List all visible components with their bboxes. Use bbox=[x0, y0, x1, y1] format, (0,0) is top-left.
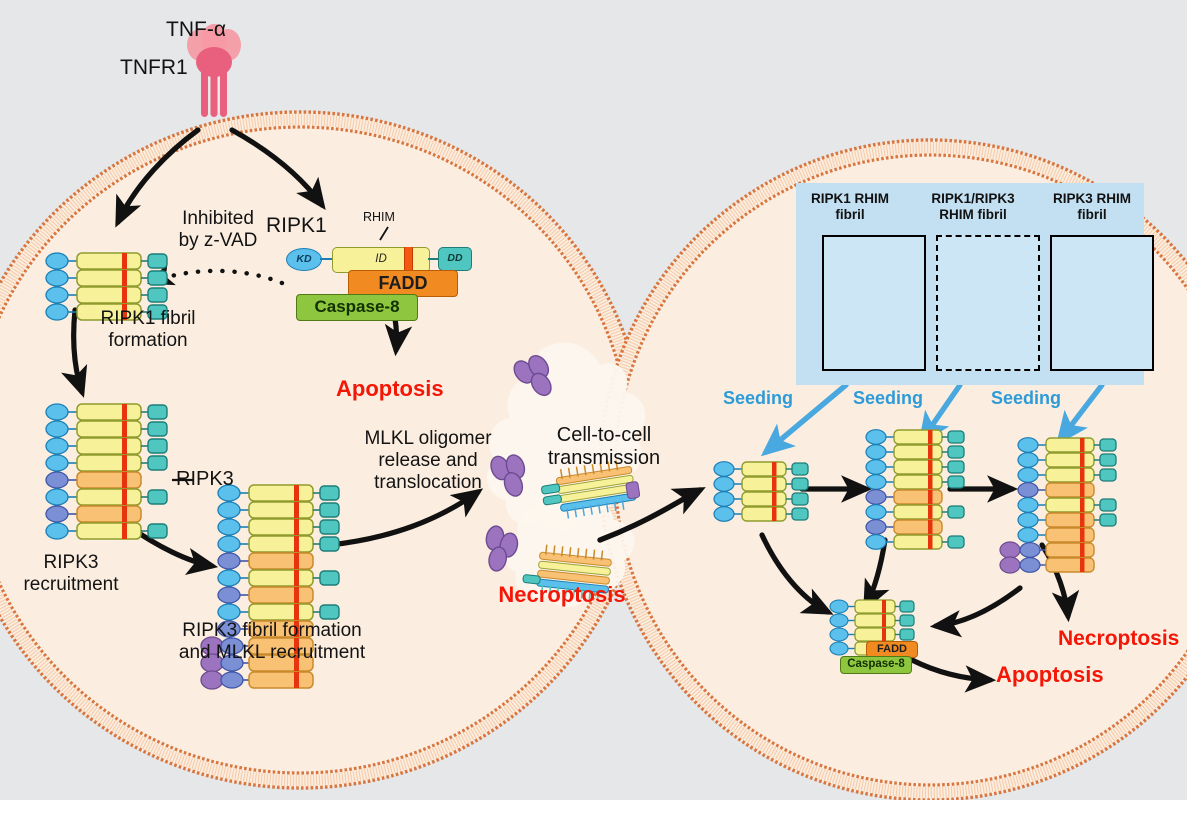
kd-linker bbox=[320, 258, 332, 260]
ripk1-domain-schematic: KD ID DD FADD Caspase-8 bbox=[286, 232, 476, 306]
caspase8-protein: Caspase-8 bbox=[296, 294, 418, 321]
inset-title-ripk3: RIPK3 RHIM fibril bbox=[1040, 191, 1144, 223]
cell-to-cell-transmission-label: Cell-to-cell transmission bbox=[548, 424, 660, 470]
right-caspase8-protein: Caspase-8 bbox=[840, 656, 912, 674]
seeding-label-3: Seeding bbox=[991, 388, 1061, 409]
rhim-motif bbox=[404, 247, 413, 271]
rhim-label: RHIM bbox=[363, 210, 395, 225]
left-apoptosis-label: Apoptosis bbox=[336, 376, 444, 402]
ripk3-recruitment-label: RIPK3 recruitment bbox=[23, 552, 118, 596]
inset-title-ripk1-ripk3: RIPK1/RIPK3 RHIM fibril bbox=[914, 191, 1032, 223]
inset-box-ripk1-ripk3 bbox=[936, 235, 1040, 371]
inset-box-ripk3 bbox=[1050, 235, 1154, 371]
fadd-protein: FADD bbox=[348, 270, 458, 297]
ripk1-fibril-formation-label: RIPK1 fibril formation bbox=[100, 308, 195, 352]
dd-domain: DD bbox=[438, 247, 472, 271]
seeding-label-2: Seeding bbox=[853, 388, 923, 409]
dd-linker bbox=[428, 258, 438, 260]
inset-box-ripk1 bbox=[822, 235, 926, 371]
zvad-inhibition-label: Inhibited by z-VAD bbox=[179, 208, 258, 252]
middle-necroptosis-label: Necroptosis bbox=[498, 582, 625, 608]
ripk3-fibril-formation-label: RIPK3 fibril formation and MLKL recruitm… bbox=[179, 620, 365, 664]
kd-domain: KD bbox=[286, 248, 322, 271]
right-apoptosis-label: Apoptosis bbox=[996, 662, 1104, 688]
tnfr1-label: TNFR1 bbox=[120, 56, 188, 80]
inset-title-ripk1: RIPK1 RHIM fibril bbox=[798, 191, 902, 223]
tnf-alpha-label: TNF-α bbox=[166, 18, 226, 42]
mlkl-release-label: MLKL oligomer release and translocation bbox=[364, 428, 491, 494]
figure-canvas: RIPK1 RHIM fibril RIPK1/RIPK3 RHIM fibri… bbox=[0, 0, 1187, 823]
diagram-area: RIPK1 RHIM fibril RIPK1/RIPK3 RHIM fibri… bbox=[0, 0, 1187, 800]
rhim-fibril-inset-panel: RIPK1 RHIM fibril RIPK1/RIPK3 RHIM fibri… bbox=[796, 183, 1144, 385]
ripk1-label: RIPK1 bbox=[266, 214, 327, 238]
right-necroptosis-label: Necroptosis bbox=[1058, 627, 1179, 651]
seeding-label-1: Seeding bbox=[723, 388, 793, 409]
ripk3-callout-label: RIPK3 bbox=[176, 468, 234, 491]
